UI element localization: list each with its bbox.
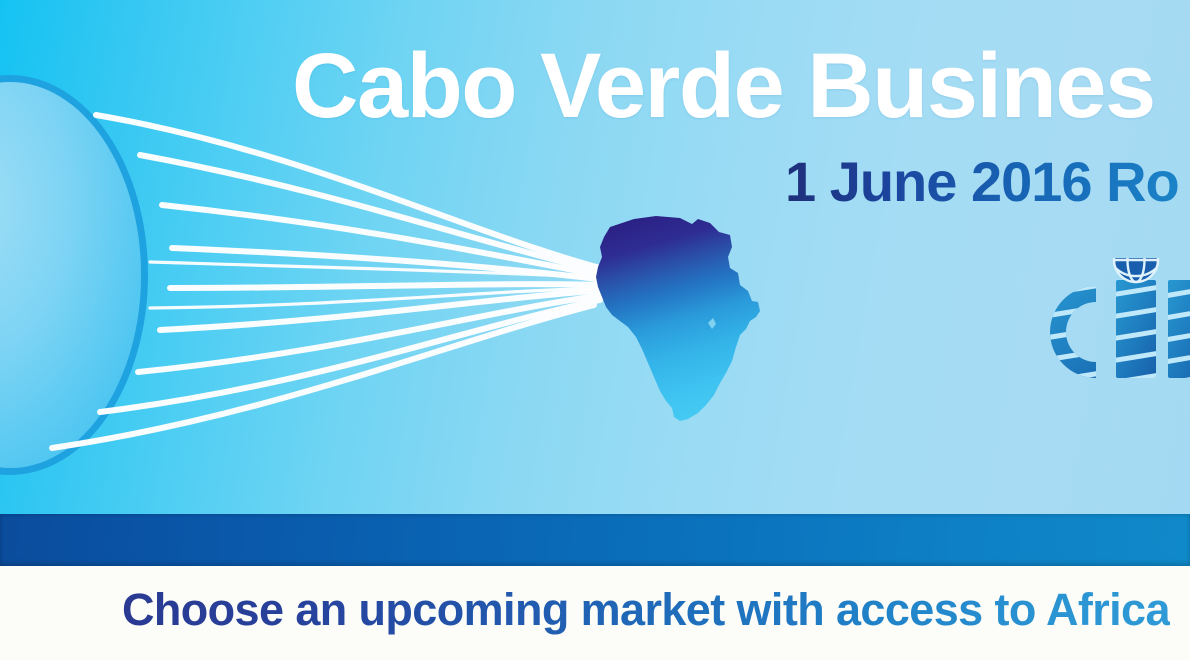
bottom-strip: Choose an upcoming market with access to… bbox=[0, 566, 1190, 660]
banner-headline: Cabo Verde Busines bbox=[292, 38, 1155, 135]
africa-map bbox=[580, 205, 792, 435]
cabo-verde-circle-fill bbox=[0, 82, 141, 468]
cbi-logo bbox=[1020, 258, 1190, 438]
globe-icon bbox=[1114, 258, 1158, 282]
divider-bar bbox=[0, 514, 1190, 566]
banner-subline: 1 June 2016 Ro bbox=[785, 152, 1179, 212]
banner-strapline: Choose an upcoming market with access to… bbox=[122, 584, 1170, 636]
event-banner: Cabo Verde Busines 1 June 2016 Ro Choose… bbox=[0, 0, 1190, 660]
sky-background: Cabo Verde Busines 1 June 2016 Ro bbox=[0, 0, 1190, 514]
logo-letter-c bbox=[1020, 266, 1190, 408]
cabo-verde-circle bbox=[0, 75, 148, 475]
